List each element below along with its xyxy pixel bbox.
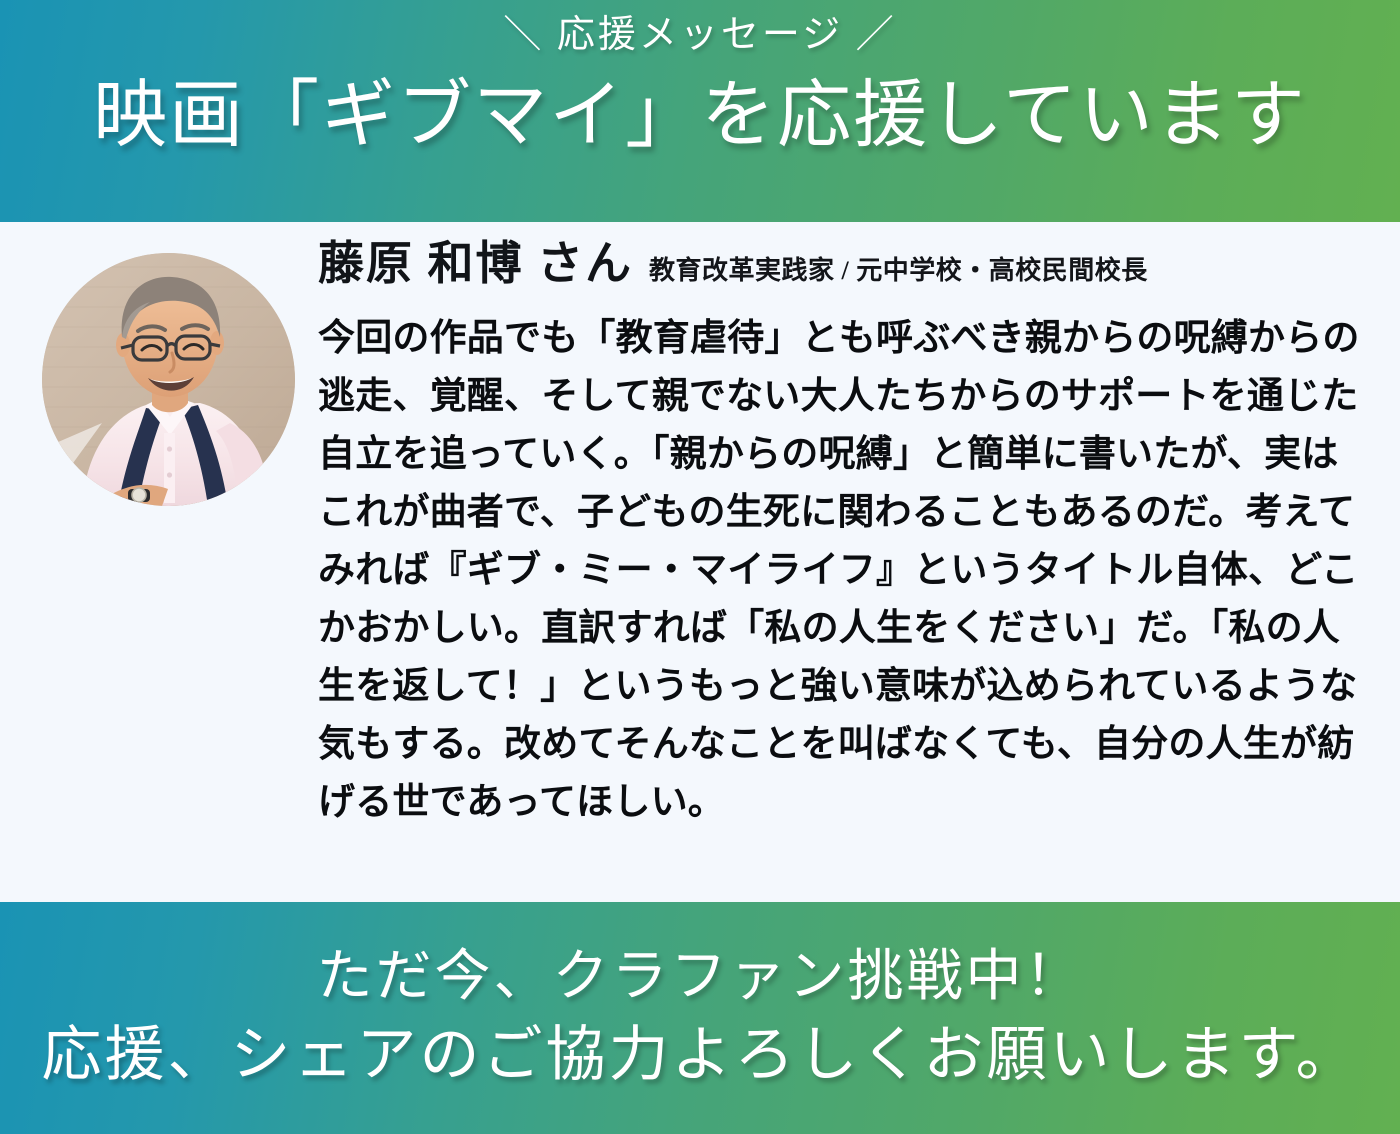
profile-heading: 藤原 和博 さん 教育改革実践家 / 元中学校・高校民間校長 <box>318 238 1378 291</box>
person-credential: 教育改革実践家 / 元中学校・高校民間校長 <box>649 256 1148 286</box>
message-content-area: 藤原 和博 さん 教育改革実践家 / 元中学校・高校民間校長 今回の作品でも「教… <box>0 222 1400 902</box>
header-eyebrow-label: ＼ 応援メッセージ ／ <box>503 14 896 58</box>
footer-line-2: 応援、シェアのご協力よろしくお願いします。 <box>42 1015 1359 1096</box>
support-message-poster: ＼ 応援メッセージ ／ 映画「ギブマイ」を応援しています <box>0 0 1400 1134</box>
avatar <box>42 253 295 506</box>
header-banner: ＼ 応援メッセージ ／ 映画「ギブマイ」を応援しています <box>0 0 1400 222</box>
footer-banner: ただ今、クラファン挑戦中！ 応援、シェアのご協力よろしくお願いします。 <box>0 902 1400 1134</box>
person-name: 藤原 和博 さん <box>318 238 633 291</box>
support-message-text: 今回の作品でも「教育虐待」とも呼ぶべき親からの呪縛からの 逃走、覚醒、そして親で… <box>318 309 1378 831</box>
profile-column: 藤原 和博 さん 教育改革実践家 / 元中学校・高校民間校長 今回の作品でも「教… <box>318 222 1378 831</box>
footer-line-1: ただ今、クラファン挑戦中！ <box>317 940 1084 1016</box>
page-title: 映画「ギブマイ」を応援しています <box>93 70 1307 163</box>
portrait-photo-icon <box>42 253 295 506</box>
